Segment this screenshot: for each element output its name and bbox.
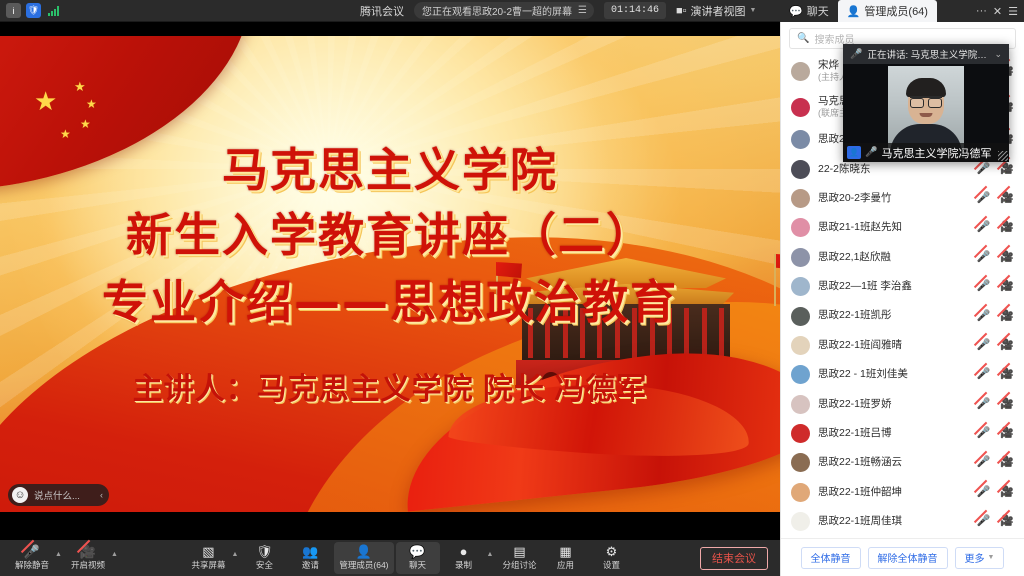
tencent-meeting-window: i 🛡 腾讯会议 您正在观看思政20-2曹一超的屏幕 ☰ 01:14:46 ■▫…	[0, 0, 1024, 576]
breakout-rooms-button[interactable]: ▤ 分组讨论	[497, 542, 541, 574]
toolbar-center-group: ▧ 共享屏幕 ▲ 🛡 安全 👥 邀请 👤 管理成员(64) 💬 聊天	[120, 542, 700, 574]
tab-chat[interactable]: 💬 聊天	[780, 0, 838, 22]
shared-screen-stage: ★ ★ ★ ★ ★ 中华人民共和国万岁	[0, 22, 780, 540]
camera-options-chevron-icon[interactable]: ▲	[110, 551, 120, 566]
unmute-all-button[interactable]: 解除全体静音	[868, 547, 948, 569]
mic-off-icon: 🎤	[24, 545, 40, 558]
camera-off-icon[interactable]: 🎥	[1000, 487, 1014, 498]
mic-off-icon[interactable]: 🎤	[977, 252, 991, 263]
toolbar-left-group: 🎤 解除静音 ▲ 🎥 开启视频 ▲	[0, 542, 120, 574]
share-screen-label: 共享屏幕	[191, 559, 225, 571]
record-button[interactable]: ● 录制	[442, 542, 486, 574]
avatar	[791, 130, 810, 149]
slide-title-line-3: 专业介绍——思想政治教育	[0, 266, 780, 332]
member-row[interactable]: 思政22-1班罗娇🎤🎥	[781, 390, 1024, 419]
member-name: 思政22-1班阎雅晴	[818, 339, 971, 352]
breakout-icon: ▤	[513, 545, 525, 558]
member-name-wrapper: 思政22—1班 李治鑫	[818, 280, 971, 293]
member-row[interactable]: 思政20-2李曼竹🎤🎥	[781, 184, 1024, 213]
member-row[interactable]: 思政22-1班吕博🎤🎥	[781, 419, 1024, 448]
camera-off-icon[interactable]: 🎥	[1000, 428, 1014, 439]
member-name: 思政22-1班畅涵云	[818, 456, 971, 469]
member-row[interactable]: 思政22-1班阎雅晴🎤🎥	[781, 331, 1024, 360]
panel-tab-strip: 💬 聊天 👤 管理成员(64) ··· ✕ ☰	[780, 0, 1024, 22]
share-notice[interactable]: 您正在观看思政20-2曹一超的屏幕 ☰	[414, 2, 594, 19]
camera-off-icon[interactable]: 🎥	[1000, 399, 1014, 410]
chevron-down-icon: ▼	[988, 554, 995, 561]
close-icon[interactable]: ✕	[993, 5, 1002, 18]
avatar	[791, 365, 810, 384]
more-actions-label: 更多	[965, 550, 985, 565]
mic-off-icon[interactable]: 🎤	[977, 487, 991, 498]
top-bar-left-icons: i 🛡	[0, 3, 360, 18]
avatar	[791, 453, 810, 472]
speaking-icon: 🎤	[850, 49, 862, 60]
record-label: 录制	[455, 559, 472, 571]
bottom-toolbar: 🎤 解除静音 ▲ 🎥 开启视频 ▲ ▧ 共享屏幕 ▲	[0, 540, 780, 576]
member-name-wrapper: 思政22-1班凯彤	[818, 309, 971, 322]
invite-button[interactable]: 👥 邀请	[288, 542, 332, 574]
member-name-wrapper: 思政22-1班畅涵云	[818, 456, 971, 469]
member-status-icons: 🎤🎥	[977, 252, 1014, 263]
signal-icon[interactable]	[46, 3, 61, 18]
camera-off-icon[interactable]: 🎥	[1000, 311, 1014, 322]
member-name: 思政20-2李曼竹	[818, 192, 971, 205]
shield-icon: 🛡	[256, 545, 273, 558]
camera-off-icon[interactable]: 🎥	[1000, 222, 1014, 233]
avatar	[791, 98, 810, 117]
member-row[interactable]: 思政22 - 1班刘佳美🎤🎥	[781, 360, 1024, 389]
speaker-name: 马克思主义学院冯德军	[881, 145, 991, 161]
more-actions-button[interactable]: 更多 ▼	[955, 547, 1005, 569]
avatar	[791, 483, 810, 502]
share-screen-control: ▧ 共享屏幕 ▲	[186, 542, 240, 574]
camera-off-icon[interactable]: 🎥	[1000, 457, 1014, 468]
end-meeting-button[interactable]: 结束会议	[700, 547, 768, 570]
mic-off-icon[interactable]: 🎤	[977, 222, 991, 233]
member-name: 思政22 - 1班刘佳美	[818, 368, 971, 381]
settings-label: 设置	[603, 559, 620, 571]
star-icon: ★	[86, 98, 97, 110]
camera-off-icon[interactable]: 🎥	[1000, 252, 1014, 263]
mic-on-icon: 🎤	[865, 147, 877, 158]
chat-label: 聊天	[409, 559, 426, 571]
mic-off-icon[interactable]: 🎤	[977, 340, 991, 351]
avatar	[791, 336, 810, 355]
security-label: 安全	[256, 559, 273, 571]
avatar	[791, 248, 810, 267]
star-icon: ★	[74, 80, 86, 93]
member-status-icons: 🎤🎥	[977, 340, 1014, 351]
member-status-icons: 🎤🎥	[977, 516, 1014, 527]
settings-button[interactable]: ⚙ 设置	[589, 542, 633, 574]
invite-label: 邀请	[302, 559, 319, 571]
chevron-left-icon[interactable]: ‹	[98, 490, 103, 500]
member-name: 思政22-1班罗娇	[818, 398, 971, 411]
record-options-chevron-icon[interactable]: ▲	[486, 551, 496, 566]
member-name-wrapper: 思政22-1班仲韶坤	[818, 486, 971, 499]
avatar	[791, 62, 810, 81]
start-video-button-label: 开启视频	[71, 559, 105, 571]
member-status-icons: 🎤🎥	[977, 428, 1014, 439]
presentation-slide: ★ ★ ★ ★ ★ 中华人民共和国万岁	[0, 36, 780, 512]
member-status-icons: 🎤🎥	[977, 311, 1014, 322]
chevron-down-icon[interactable]: ▼	[750, 7, 757, 14]
emoji-icon[interactable]: ☺	[12, 487, 28, 503]
menu-icon[interactable]: ☰	[1008, 5, 1018, 18]
member-panel-actions: 全体静音 解除全体静音 更多 ▼	[781, 538, 1024, 576]
floating-video-name-bar: 👤 🎤 马克思主义学院冯德军	[843, 143, 1009, 162]
speaker-view-icon: ■▫	[676, 5, 687, 17]
manage-members-button[interactable]: 👤 管理成员(64)	[334, 542, 393, 574]
member-row[interactable]: 思政22-1班凯彤🎤🎥	[781, 301, 1024, 330]
camera-off-icon[interactable]: 🎥	[1000, 193, 1014, 204]
camera-control: 🎥 开启视频 ▲	[66, 542, 120, 574]
avatar	[791, 395, 810, 414]
record-icon: ●	[460, 545, 468, 558]
member-status-icons: 🎤🎥	[977, 487, 1014, 498]
member-name: 思政22,1赵欣融	[818, 251, 971, 264]
apps-icon: ▦	[559, 545, 571, 558]
meeting-timer: 01:14:46	[604, 2, 666, 19]
mic-off-icon[interactable]: 🎤	[977, 428, 991, 439]
speaking-label: 正在讲话: 马克思主义学院冯德...	[867, 47, 989, 61]
apps-label: 应用	[557, 559, 574, 571]
manage-members-label: 管理成员(64)	[339, 559, 388, 571]
mic-off-icon[interactable]: 🎤	[977, 193, 991, 204]
member-name-wrapper: 22-2陈晓东	[818, 163, 971, 176]
member-name: 22-2陈晓东	[818, 163, 971, 176]
member-row[interactable]: 思政22-1班畅涵云🎤🎥	[781, 448, 1024, 477]
avatar	[791, 189, 810, 208]
camera-off-icon[interactable]: 🎥	[1000, 164, 1014, 175]
mic-off-icon[interactable]: 🎤	[977, 399, 991, 410]
member-name: 思政22-1班吕博	[818, 427, 971, 440]
member-name: 思政22-1班仲韶坤	[818, 486, 971, 499]
view-mode-label: 演讲者视图	[691, 3, 746, 19]
member-status-icons: 🎤🎥	[977, 193, 1014, 204]
member-row[interactable]: 思政22—1班 李治鑫🎤🎥	[781, 272, 1024, 301]
member-name-wrapper: 思政22-1班罗娇	[818, 398, 971, 411]
start-video-button[interactable]: 🎥 开启视频	[66, 542, 110, 574]
member-name-wrapper: 思政22-1班周佳琪	[818, 515, 971, 528]
member-row[interactable]: 思政22-1班周佳琪🎤🎥	[781, 507, 1024, 536]
mic-off-icon[interactable]: 🎤	[977, 281, 991, 292]
unmute-button-label: 解除静音	[15, 559, 49, 571]
toolbar-right-group: 结束会议	[700, 547, 780, 570]
record-control: ● 录制 ▲	[442, 542, 496, 574]
host-badge-icon: 👤	[847, 146, 861, 159]
slide-title-line-2: 新生入学教育讲座（二）	[0, 199, 780, 265]
chat-icon: 💬	[409, 545, 425, 558]
chat-button[interactable]: 💬 聊天	[396, 542, 440, 574]
search-icon: 🔍	[797, 33, 809, 44]
shield-icon[interactable]: 🛡	[26, 3, 41, 18]
avatar	[791, 277, 810, 296]
info-icon[interactable]: i	[6, 3, 21, 18]
member-status-icons: 🎤🎥	[977, 164, 1014, 175]
members-icon: 👤	[356, 545, 372, 558]
tab-chat-label: 聊天	[807, 3, 829, 19]
member-name-wrapper: 思政22-1班阎雅晴	[818, 339, 971, 352]
member-status-icons: 🎤🎥	[977, 369, 1014, 380]
camera-off-icon[interactable]: 🎥	[1000, 340, 1014, 351]
camera-off-icon[interactable]: 🎥	[1000, 516, 1014, 527]
gear-icon: ⚙	[606, 545, 618, 558]
member-name-wrapper: 思政22 - 1班刘佳美	[818, 368, 971, 381]
floating-video-body: 👤 🎤 马克思主义学院冯德军	[843, 64, 1009, 162]
share-options-chevron-icon[interactable]: ▲	[230, 551, 240, 566]
chat-icon: 💬	[789, 5, 803, 18]
mic-off-icon[interactable]: 🎤	[977, 311, 991, 322]
panel-tab-actions: ··· ✕ ☰	[976, 5, 1024, 18]
share-screen-button[interactable]: ▧ 共享屏幕	[186, 542, 230, 574]
floating-video-header: 🎤 正在讲话: 马克思主义学院冯德... ⌄	[843, 44, 1009, 64]
avatar	[791, 424, 810, 443]
mic-off-icon[interactable]: 🎤	[977, 164, 991, 175]
member-status-icons: 🎤🎥	[977, 399, 1014, 410]
mic-off-icon[interactable]: 🎤	[977, 369, 991, 380]
member-name: 思政22—1班 李治鑫	[818, 280, 971, 293]
member-name: 思政22-1班凯彤	[818, 309, 971, 322]
share-screen-icon: ▧	[202, 545, 214, 558]
mic-off-icon[interactable]: 🎤	[977, 457, 991, 468]
member-name-wrapper: 思政22,1赵欣融	[818, 251, 971, 264]
slide-title-line-1: 马克思主义学院	[0, 134, 780, 200]
member-name: 思政22-1班周佳琪	[818, 515, 971, 528]
member-row[interactable]: 思政22-1班仲韶坤🎤🎥	[781, 478, 1024, 507]
invite-icon: 👥	[302, 545, 318, 558]
member-row[interactable]: 思政22-1曹红梅🎤🎥	[781, 536, 1024, 538]
slide-presenter-line: 主讲人：马克思主义学院 院长 冯德军	[0, 364, 780, 408]
star-icon: ★	[80, 118, 91, 130]
member-name-wrapper: 思政20-2李曼竹	[818, 192, 971, 205]
apps-button[interactable]: ▦ 应用	[543, 542, 587, 574]
avatar	[791, 307, 810, 326]
share-notice-text: 您正在观看思政20-2曹一超的屏幕	[422, 3, 572, 18]
resize-handle[interactable]	[998, 151, 1008, 161]
member-name-wrapper: 思政21-1班赵先知	[818, 221, 971, 234]
mic-control: 🎤 解除静音 ▲	[10, 542, 64, 574]
more-icon[interactable]: ···	[976, 5, 987, 17]
tab-members-label: 管理成员(64)	[864, 3, 928, 19]
security-button[interactable]: 🛡 安全	[242, 542, 286, 574]
unmute-button[interactable]: 🎤 解除静音	[10, 542, 54, 574]
mic-off-icon[interactable]: 🎤	[977, 516, 991, 527]
chat-input[interactable]: 说点什么...	[34, 488, 92, 502]
avatar	[791, 512, 810, 531]
camera-off-icon: 🎥	[80, 545, 96, 558]
camera-off-icon[interactable]: 🎥	[1000, 281, 1014, 292]
floating-speaker-video[interactable]: 🎤 正在讲话: 马克思主义学院冯德... ⌄ 👤 🎤 马克思主义学院冯德军	[843, 44, 1009, 162]
breakout-label: 分组讨论	[502, 559, 536, 571]
app-title: 腾讯会议	[360, 3, 404, 19]
member-status-icons: 🎤🎥	[977, 457, 1014, 468]
list-icon[interactable]: ☰	[578, 5, 586, 16]
camera-off-icon[interactable]: 🎥	[1000, 369, 1014, 380]
members-icon: 👤	[847, 5, 861, 18]
avatar	[791, 218, 810, 237]
mute-all-button[interactable]: 全体静音	[801, 547, 861, 569]
star-icon: ★	[34, 88, 57, 114]
member-status-icons: 🎤🎥	[977, 281, 1014, 292]
member-row[interactable]: 思政22,1赵欣融🎤🎥	[781, 243, 1024, 272]
member-status-icons: 🎤🎥	[977, 222, 1014, 233]
chat-composer[interactable]: ☺ 说点什么... ‹	[8, 484, 109, 506]
tab-members[interactable]: 👤 管理成员(64)	[838, 0, 937, 22]
mic-options-chevron-icon[interactable]: ▲	[54, 551, 64, 566]
chevron-down-icon[interactable]: ⌄	[994, 49, 1002, 60]
avatar	[791, 160, 810, 179]
member-name-wrapper: 思政22-1班吕博	[818, 427, 971, 440]
view-mode-selector[interactable]: ■▫ 演讲者视图 ▼	[676, 3, 756, 19]
member-row[interactable]: 思政21-1班赵先知🎤🎥	[781, 213, 1024, 242]
member-name: 思政21-1班赵先知	[818, 221, 971, 234]
